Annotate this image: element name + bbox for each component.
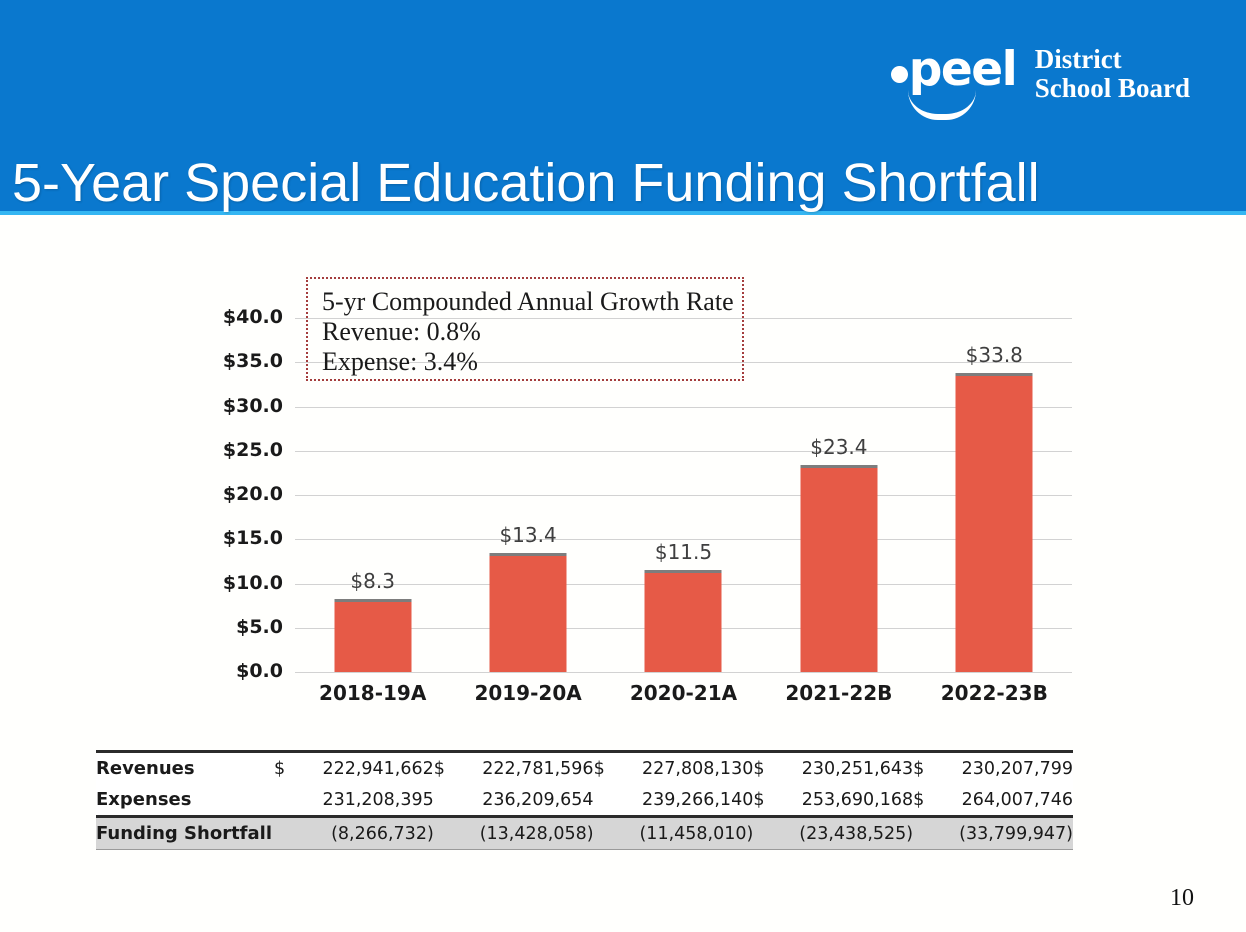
bar-value-label: $8.3: [350, 571, 395, 591]
table-cell-currency-symbol: [434, 784, 450, 817]
y-axis-tick-label: $40.0: [197, 308, 283, 327]
peel-district-school-board-logo: peel District School Board: [889, 44, 1190, 116]
table-cell-currency-symbol: $: [274, 752, 290, 785]
table-row-label: Funding Shortfall: [96, 817, 274, 850]
table-cell-currency-symbol: $: [594, 752, 610, 785]
y-axis-tick-label: $15.0: [197, 529, 283, 548]
bar-group: $23.4: [761, 318, 916, 672]
table-row-label: Expenses: [96, 784, 274, 817]
table-cell-value: 222,781,596: [450, 752, 594, 785]
table-cell-currency-symbol: $: [753, 752, 769, 785]
logo-subtitle-line2: School Board: [1035, 74, 1190, 103]
table-cell-value: 230,207,799: [929, 752, 1073, 785]
slide-canvas: peel District School Board 5-Year Specia…: [0, 0, 1246, 932]
table-cell-value: (8,266,732): [274, 817, 434, 850]
page-number: 10: [1170, 885, 1194, 912]
table-cell-currency-symbol: [274, 784, 290, 817]
table-cell-value: 230,251,643: [770, 752, 914, 785]
table-cell-currency-symbol: $: [434, 752, 450, 785]
y-axis-tick-label: $20.0: [197, 485, 283, 504]
table-cell-value: 253,690,168: [770, 784, 914, 817]
logo-mark: peel: [889, 44, 1029, 116]
y-axis-tick-label: $10.0: [197, 574, 283, 593]
x-axis-tick-label: 2020-21A: [606, 682, 761, 704]
table-cell-currency-symbol: $: [913, 752, 929, 785]
page-title: 5-Year Special Education Funding Shortfa…: [12, 152, 1040, 214]
bar-group: $33.8: [917, 318, 1072, 672]
table-cell-currency-symbol: $: [753, 784, 769, 817]
y-axis-labels: $40.0$35.0$30.0$25.0$20.0$15.0$10.0$5.0$…: [197, 318, 283, 672]
callout-line-1: 5-yr Compounded Annual Growth Rate: [322, 287, 742, 317]
bar-value-label: $33.8: [966, 345, 1023, 365]
bar[interactable]: [645, 570, 722, 672]
gridline: [295, 672, 1072, 673]
financial-summary-table: Revenues$222,941,662$222,781,596$227,808…: [96, 750, 1073, 850]
table-cell-value: 227,808,130: [610, 752, 754, 785]
dot-icon: [891, 66, 908, 83]
bar-value-label: $23.4: [810, 437, 867, 457]
table-cell-currency-symbol: [594, 784, 610, 817]
table-cell-value: (23,438,525): [753, 817, 913, 850]
callout-line-3: Expense: 3.4%: [322, 347, 742, 377]
bar[interactable]: [490, 553, 567, 672]
table-cell-currency-symbol: $: [913, 784, 929, 817]
table-row: Expenses231,208,395236,209,654239,266,14…: [96, 784, 1073, 817]
bar[interactable]: [800, 465, 877, 672]
table-cell-value: 239,266,140: [610, 784, 754, 817]
y-axis-tick-label: $5.0: [197, 618, 283, 637]
bar[interactable]: [956, 373, 1033, 672]
table-cell-value: 222,941,662: [290, 752, 434, 785]
logo-subtitle: District School Board: [1035, 45, 1190, 103]
table-cell-value: 236,209,654: [450, 784, 594, 817]
table-cell-value: 231,208,395: [290, 784, 434, 817]
logo-wordmark: peel: [909, 46, 1017, 93]
x-axis-tick-label: 2019-20A: [450, 682, 605, 704]
smile-curve-icon: [908, 90, 976, 120]
x-axis-tick-label: 2022-23B: [917, 682, 1072, 704]
table-row: Revenues$222,941,662$222,781,596$227,808…: [96, 752, 1073, 785]
x-axis-tick-label: 2021-22B: [761, 682, 916, 704]
table-row-label: Revenues: [96, 752, 274, 785]
bar-value-label: $11.5: [655, 542, 712, 562]
table-cell-value: (33,799,947): [913, 817, 1073, 850]
table-cell-value: 264,007,746: [929, 784, 1073, 817]
table-body: Revenues$222,941,662$222,781,596$227,808…: [96, 752, 1073, 850]
table-row: Funding Shortfall(8,266,732)(13,428,058)…: [96, 817, 1073, 850]
bar[interactable]: [334, 599, 411, 672]
bar-value-label: $13.4: [499, 525, 556, 545]
logo-subtitle-line1: District: [1035, 45, 1190, 74]
y-axis-tick-label: $25.0: [197, 441, 283, 460]
table-cell-value: (11,458,010): [594, 817, 754, 850]
callout-line-2: Revenue: 0.8%: [322, 317, 742, 347]
y-axis-tick-label: $30.0: [197, 397, 283, 416]
y-axis-tick-label: $0.0: [197, 662, 283, 681]
x-axis-tick-label: 2018-19A: [295, 682, 450, 704]
growth-rate-callout: 5-yr Compounded Annual Growth Rate Reven…: [306, 277, 744, 381]
table-cell-value: (13,428,058): [434, 817, 594, 850]
y-axis-tick-label: $35.0: [197, 352, 283, 371]
